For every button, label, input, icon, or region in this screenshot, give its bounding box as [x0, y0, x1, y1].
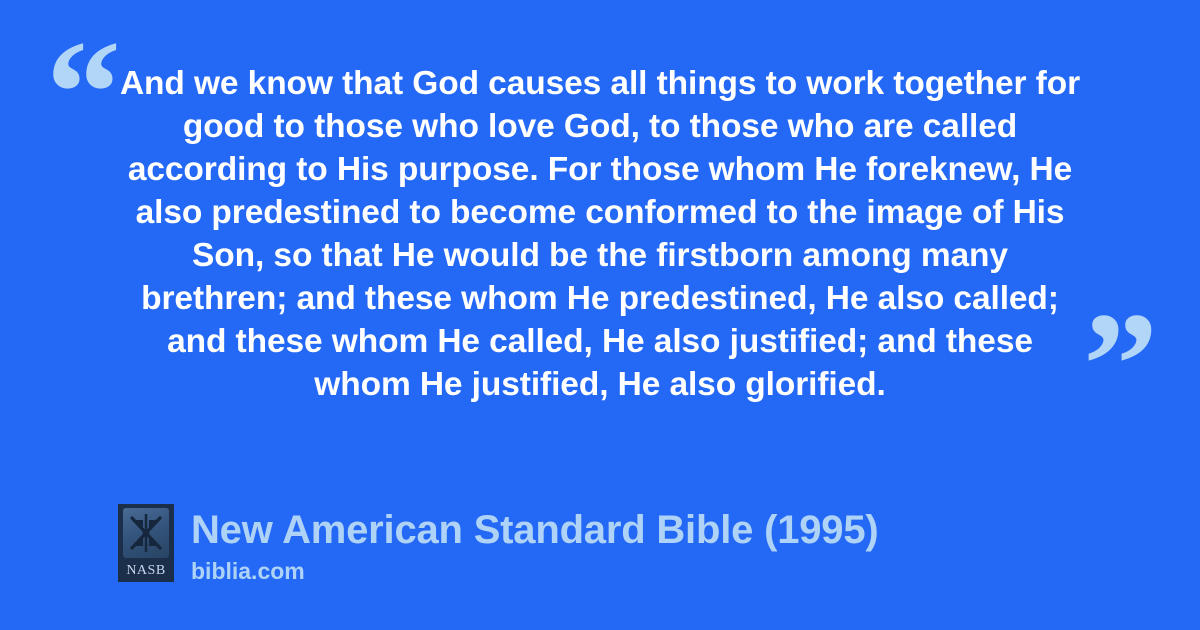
logo-wordmark: NASB: [126, 564, 165, 578]
site-url: biblia.com: [191, 556, 879, 586]
bible-version-title: New American Standard Bible (1995): [191, 506, 879, 554]
quote-body: And we know that God causes all things t…: [96, 62, 1104, 406]
logo-emblem: [123, 508, 169, 558]
footer: NASB New American Standard Bible (1995) …: [118, 504, 879, 586]
quote-text: And we know that God causes all things t…: [96, 62, 1104, 406]
quote-card: “ And we know that God causes all things…: [0, 0, 1200, 630]
footer-text-group: New American Standard Bible (1995) bibli…: [191, 504, 879, 586]
close-quote-icon: ”: [1083, 290, 1158, 440]
nasb-bible-logo-icon: NASB: [118, 504, 174, 582]
